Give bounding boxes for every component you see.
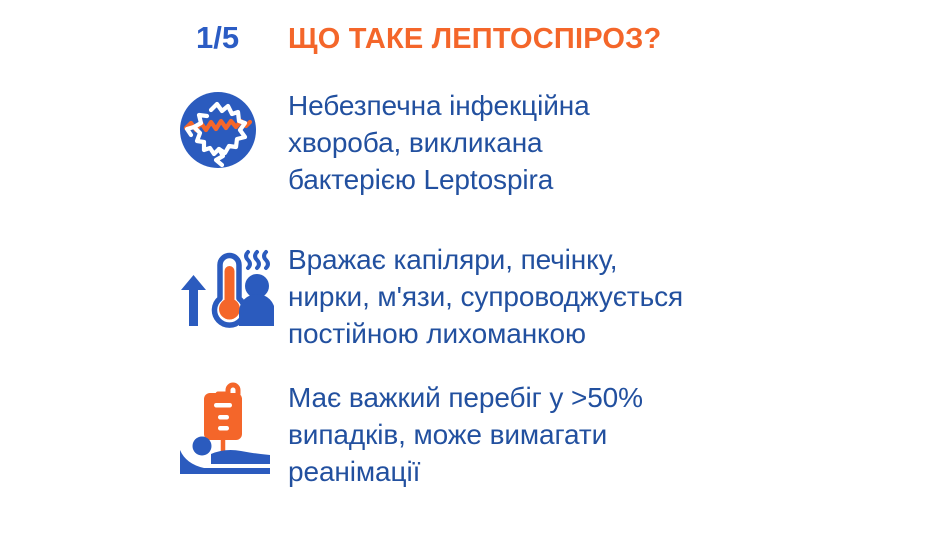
list-item-label: Небезпечна інфекційна хвороба, викликана… xyxy=(288,88,590,199)
slide-header: 1/5 ЩО ТАКЕ ЛЕПТОСПІРОЗ? xyxy=(196,22,661,64)
iv-drip-patient-bed-icon xyxy=(178,382,276,474)
list-item: Вражає капіляри, печінку, нирки, м'язи, … xyxy=(178,240,683,353)
bullet-icon-slot xyxy=(178,378,288,474)
spirochete-bacteria-icon xyxy=(178,90,258,170)
list-item: Має важкий перебіг у >50% випадків, може… xyxy=(178,378,643,491)
step-counter: 1/5 xyxy=(196,22,288,53)
list-item-label: Має важкий перебіг у >50% випадків, може… xyxy=(288,380,643,491)
page-title: ЩО ТАКЕ ЛЕПТОСПІРОЗ? xyxy=(288,25,661,54)
bullet-icon-slot xyxy=(178,240,288,330)
list-item: Небезпечна інфекційна хвороба, викликана… xyxy=(178,86,590,199)
bullet-icon-slot xyxy=(178,86,288,170)
slide-canvas: 1/5 ЩО ТАКЕ ЛЕПТОСПІРОЗ? Небезпечна інфе… xyxy=(0,0,950,535)
list-item-label: Вражає капіляри, печінку, нирки, м'язи, … xyxy=(288,242,683,353)
fever-thermometer-person-icon xyxy=(178,244,274,330)
